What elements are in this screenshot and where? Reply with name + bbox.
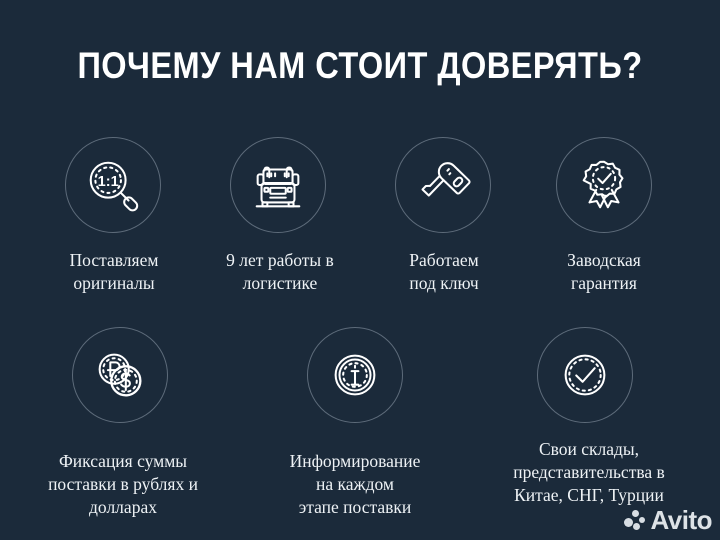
info-circle-icon xyxy=(324,344,386,406)
promo-slide: ПОЧЕМУ НАМ СТОИТ ДОВЕРЯТЬ? 1:1 Поставляе… xyxy=(0,0,720,540)
feature-icon-circle-6 xyxy=(307,327,403,423)
avito-watermark: Avito xyxy=(624,507,712,533)
feature-icon-circle-2 xyxy=(230,137,326,233)
avito-brand-text: Avito xyxy=(650,507,712,533)
feature-caption-6: Информирование на каждом этапе поставки xyxy=(252,450,458,519)
feature-icon-circle-4 xyxy=(556,137,652,233)
feature-icon-circle-1: 1:1 xyxy=(65,137,161,233)
feature-caption-3: Работаем под ключ xyxy=(358,249,530,295)
key-icon xyxy=(412,154,474,216)
feature-caption-4: Заводская гарантия xyxy=(518,249,690,295)
ruble-dollar-coins-icon xyxy=(89,344,151,406)
check-circle-icon xyxy=(554,344,616,406)
feature-icon-circle-5 xyxy=(72,327,168,423)
feature-caption-1: Поставляем оригиналы xyxy=(28,249,200,295)
truck-front-icon xyxy=(247,154,309,216)
feature-icon-circle-7 xyxy=(537,327,633,423)
award-rosette-check-icon xyxy=(573,154,635,216)
page-title: ПОЧЕМУ НАМ СТОИТ ДОВЕРЯТЬ? xyxy=(43,46,677,86)
feature-caption-7: Свои склады, представительства в Китае, … xyxy=(482,438,696,507)
feature-caption-2: 9 лет работы в логистике xyxy=(192,249,368,295)
svg-text:1:1: 1:1 xyxy=(98,174,119,190)
magnifier-1to1-icon: 1:1 xyxy=(82,154,144,216)
feature-caption-5: Фиксация суммы поставки в рублях и долла… xyxy=(20,450,226,519)
feature-icon-circle-3 xyxy=(395,137,491,233)
avito-dots-logo-icon xyxy=(624,509,646,531)
